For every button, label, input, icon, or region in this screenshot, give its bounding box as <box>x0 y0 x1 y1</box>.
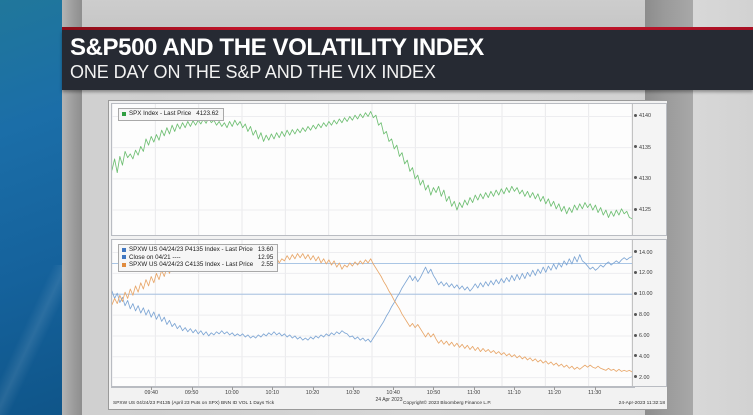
y-axis-tick-label: 6.00 <box>639 333 650 339</box>
time-axis-tick-mark <box>192 387 193 390</box>
y-axis-tick: 14.00 <box>633 248 667 258</box>
options-legend[interactable]: SPXW US 04/24/23 P4135 Index - Last Pric… <box>118 244 278 272</box>
legend-value: 12.95 <box>258 254 273 262</box>
legend-value: 13.60 <box>258 246 273 254</box>
legend-label: SPX Index - Last Price <box>129 110 191 118</box>
spx-y-axis: 4140413541304125 <box>632 104 666 235</box>
legend-color-swatch-icon <box>122 112 126 116</box>
time-axis-tick-mark <box>313 387 314 390</box>
time-axis-tick-label: 11:00 <box>467 390 480 396</box>
y-axis-tick-label: 14.00 <box>639 250 653 256</box>
y-axis-tick: 10.00 <box>633 289 667 299</box>
time-axis-tick-mark <box>272 387 273 390</box>
y-axis-tick: 2.00 <box>633 373 667 383</box>
time-axis-tick-label: 11:20 <box>548 390 561 396</box>
banner-headline: S&P500 AND THE VOLATILITY INDEX <box>70 34 484 62</box>
legend-color-swatch-icon <box>122 255 126 259</box>
legend-color-swatch-icon <box>122 248 126 252</box>
footer-timestamp: 24-Apr-2023 11:32:18 <box>619 401 665 406</box>
time-axis-tick-mark <box>595 387 596 390</box>
y-axis-tick: 4.00 <box>633 352 667 362</box>
backdrop-blue-panel <box>0 0 62 415</box>
time-axis-tick-label: 11:30 <box>588 390 601 396</box>
y-axis-tick-marker <box>634 313 637 316</box>
y-axis-tick: 6.00 <box>633 331 667 341</box>
spx-plot-area[interactable] <box>112 104 632 235</box>
y-axis-tick: 4135 <box>633 143 667 153</box>
legend-row[interactable]: Close on 04/21 ----12.95 <box>122 254 273 262</box>
time-axis-tick-label: 09:50 <box>185 390 199 396</box>
spx-legend[interactable]: SPX Index - Last Price4123.62 <box>118 108 224 121</box>
y-axis-tick-label: 2.00 <box>639 375 650 381</box>
time-axis-tick-mark <box>151 387 152 390</box>
time-axis-line <box>111 387 635 388</box>
legend-row[interactable]: SPX Index - Last Price4123.62 <box>122 110 219 118</box>
time-axis-tick-mark <box>514 387 515 390</box>
y-axis-tick: 4140 <box>633 111 667 121</box>
y-axis-tick-marker <box>634 334 637 337</box>
time-axis-tick-label: 10:00 <box>225 390 239 396</box>
time-axis-tick-mark <box>393 387 394 390</box>
legend-value: 2.55 <box>261 261 273 269</box>
y-axis-tick-label: 4140 <box>639 113 651 119</box>
time-axis-tick-label: 10:20 <box>306 390 320 396</box>
options-chart-panel[interactable]: 14.0012.0010.008.006.004.002.00 SPXW US … <box>111 239 667 387</box>
legend-label: Close on 04/21 ---- <box>129 254 181 262</box>
y-axis-tick-marker <box>634 271 637 274</box>
time-axis-tick-label: 09:40 <box>145 390 159 396</box>
y-axis-tick: 8.00 <box>633 310 667 320</box>
time-axis-tick-label: 10:50 <box>427 390 441 396</box>
time-axis-tick-label: 10:30 <box>346 390 360 396</box>
time-axis-tick-mark <box>474 387 475 390</box>
y-axis-tick-label: 10.00 <box>639 291 653 297</box>
spx-line-chart <box>112 104 632 235</box>
legend-label: SPXW US 04/24/23 P4135 Index - Last Pric… <box>129 246 253 254</box>
y-axis-tick-marker <box>634 176 637 179</box>
footer-copyright: Copyright© 2023 Bloomberg Finance L.P. <box>403 401 491 406</box>
y-axis-tick: 4130 <box>633 174 667 184</box>
terminal-footer: SPXW US 04/24/23 P4135 (April 23 Puts on… <box>111 401 667 410</box>
time-axis-tick-label: 11:10 <box>508 390 521 396</box>
time-axis-tick-label: 10:40 <box>386 390 400 396</box>
time-axis-tick-mark <box>353 387 354 390</box>
y-axis-tick-label: 12.00 <box>639 270 653 276</box>
y-axis-tick-marker <box>634 145 637 148</box>
legend-color-swatch-icon <box>122 263 126 267</box>
bloomberg-chart-panel: 4140413541304125 SPX Index - Last Price4… <box>108 100 668 410</box>
options-y-axis: 14.0012.0010.008.006.004.002.00 <box>632 240 666 386</box>
legend-value: 4123.62 <box>196 110 218 118</box>
y-axis-tick-label: 4135 <box>639 145 651 151</box>
y-axis-tick-label: 4.00 <box>639 354 650 360</box>
y-axis-tick-marker <box>634 292 637 295</box>
banner-subhead: ONE DAY ON THE S&P AND THE VIX INDEX <box>70 62 436 83</box>
screen: S&P500 AND THE VOLATILITY INDEX ONE DAY … <box>0 0 753 415</box>
time-axis-tick-label: 10:10 <box>265 390 279 396</box>
legend-label: SPXW US 04/24/23 C4135 Index - Last Pric… <box>129 261 253 269</box>
spx-chart-panel[interactable]: 4140413541304125 SPX Index - Last Price4… <box>111 103 667 236</box>
y-axis-tick-marker <box>634 114 637 117</box>
y-axis-tick-marker <box>634 375 637 378</box>
time-axis-tick-mark <box>232 387 233 390</box>
y-axis-tick: 12.00 <box>633 268 667 278</box>
time-axis-tick-mark <box>554 387 555 390</box>
y-axis-tick-label: 4125 <box>639 207 651 213</box>
y-axis-tick-marker <box>634 354 637 357</box>
y-axis-tick: 4125 <box>633 205 667 215</box>
footer-security-description: SPXW US 04/24/23 P4135 (April 23 Puts on… <box>113 401 274 406</box>
y-axis-tick-label: 4130 <box>639 176 651 182</box>
y-axis-tick-marker <box>634 208 637 211</box>
legend-row[interactable]: SPXW US 04/24/23 C4135 Index - Last Pric… <box>122 261 273 269</box>
y-axis-tick-label: 8.00 <box>639 312 650 318</box>
backdrop-top-strip <box>82 0 673 30</box>
y-axis-tick-marker <box>634 250 637 253</box>
legend-row[interactable]: SPXW US 04/24/23 P4135 Index - Last Pric… <box>122 246 273 254</box>
time-axis-tick-mark <box>433 387 434 390</box>
